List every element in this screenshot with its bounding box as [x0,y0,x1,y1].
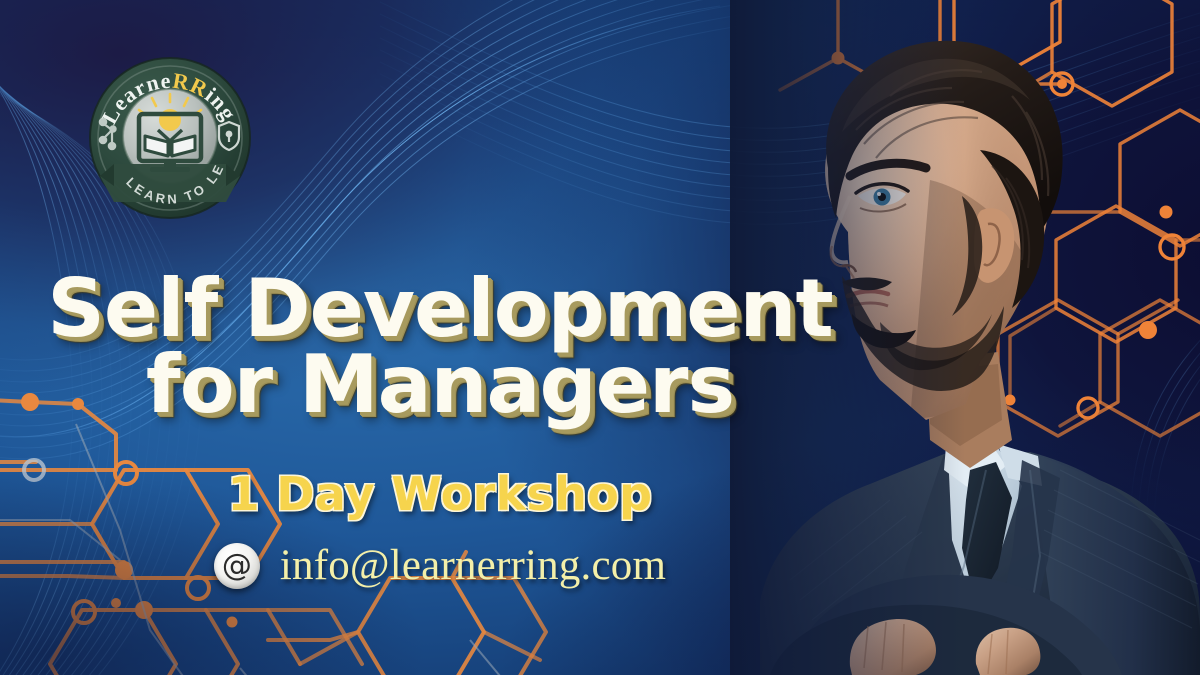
event-poster: LearneRRing LEARN TO LEAD Self Developme… [0,0,1200,675]
contact-row: @ info@learnerring.com [0,541,880,590]
title-line-1: Self Development [0,272,880,346]
at-sign-icon: @ [214,543,260,589]
page-title: Self Development for Managers [0,272,880,421]
contact-email[interactable]: info@learnerring.com [280,541,666,590]
workshop-subtitle: 1 Day Workshop [0,467,880,521]
learnerring-logo[interactable]: LearneRRing LEARN TO LEAD [84,52,256,224]
title-line-2: for Managers [0,348,880,422]
